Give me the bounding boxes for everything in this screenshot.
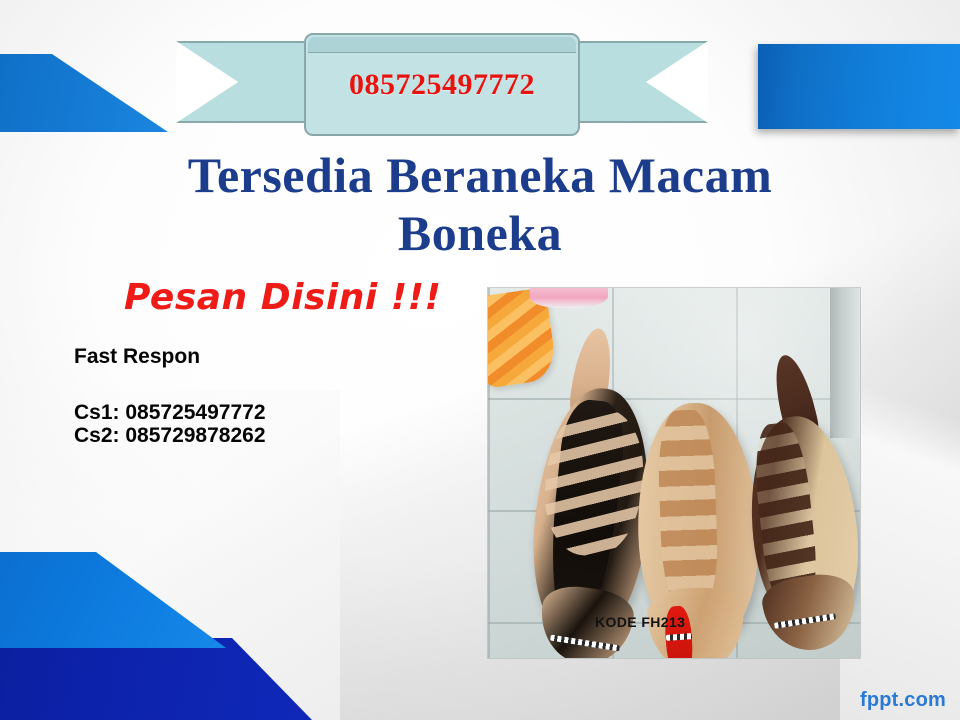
slide-canvas: 085725497772 Tersedia Beraneka Macam Bon… (0, 0, 960, 720)
page-title: Tersedia Beraneka Macam Boneka (120, 146, 840, 262)
fppt-watermark: fppt.com (860, 689, 946, 712)
ribbon-center-panel: 085725497772 (304, 33, 580, 136)
decoration-bottom-left-blue-wedge (0, 552, 226, 648)
phone-ribbon-banner: 085725497772 (176, 33, 708, 136)
contact-spacer (74, 369, 266, 401)
photo-wall-strip (830, 288, 860, 438)
contact-line-cs1: Cs1: 085725497772 (74, 401, 266, 425)
croc-tan-back-ridges (657, 409, 720, 611)
contact-block: Fast Respon Cs1: 085725497772 Cs2: 08572… (74, 345, 266, 448)
product-code-label: KODE FH213 (595, 614, 685, 630)
product-photo: KODE FH213 (488, 288, 860, 658)
decoration-bottom-left-navy-band (0, 638, 312, 720)
decoration-top-right-bar (758, 44, 960, 129)
decoration-top-left-wedge (0, 54, 168, 132)
ribbon-phone-number: 085725497772 (349, 68, 535, 102)
contact-line-cs2: Cs2: 085729878262 (74, 424, 266, 448)
photo-pink-fabric (530, 288, 608, 308)
order-here-subtitle: Pesan Disini !!! (124, 277, 441, 318)
contact-heading: Fast Respon (74, 345, 266, 369)
